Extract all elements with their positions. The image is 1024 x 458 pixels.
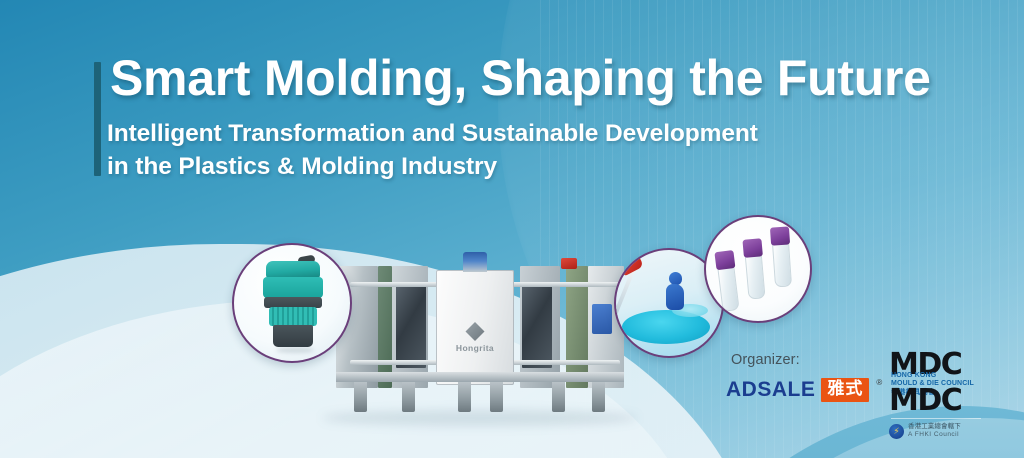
hongrita-logo-icon	[466, 322, 485, 341]
cup-upper-band	[263, 277, 323, 298]
event-banner: Smart Molding, Shaping the Future Intell…	[0, 0, 1024, 458]
test-tube	[771, 226, 792, 287]
test-tube-cap	[770, 226, 790, 245]
mdc-name-line-1: HONG KONG	[891, 372, 974, 380]
machine-red-block	[561, 258, 577, 269]
lab-figure-body	[666, 284, 684, 310]
machine-foot	[552, 382, 565, 412]
machine-core-right	[522, 282, 552, 368]
subtitle-line-1: Intelligent Transformation and Sustainab…	[107, 118, 867, 151]
fhki-text: 香港工業總會轄下 A FHKI Council	[908, 423, 961, 439]
organizer-label: Organizer:	[731, 352, 800, 368]
fhki-emblem-icon: ⚡	[889, 424, 904, 439]
machine-foot	[490, 382, 503, 412]
adsale-logo[interactable]: ADSALE 雅式 ®	[726, 378, 882, 402]
product-circle-collapsible-cup	[232, 243, 352, 363]
subtitle-line-2: in the Plastics & Molding Industry	[107, 151, 867, 184]
page-subtitle: Intelligent Transformation and Sustainab…	[107, 118, 867, 183]
machine-core-left	[396, 282, 426, 368]
test-tube-glass	[772, 241, 792, 287]
mdc-logo[interactable]: MDC HONG KONG MOULD & DIE COUNCIL 香港模具協會…	[889, 350, 985, 442]
cup-base	[273, 325, 313, 347]
fhki-english: A FHKI Council	[908, 431, 961, 439]
machine-foot	[458, 382, 471, 412]
machine-foot	[354, 382, 367, 412]
adsale-wordmark: ADSALE	[726, 378, 815, 402]
test-tube	[715, 250, 739, 312]
page-title: Smart Molding, Shaping the Future	[110, 52, 931, 105]
machine-blue-panel	[592, 304, 612, 334]
injection-mold-machine-image: Hongrita	[330, 252, 630, 442]
product-circle-test-tubes	[704, 215, 812, 323]
mdc-bottom-letters: MDC	[889, 386, 961, 416]
test-tube-cap	[714, 250, 735, 270]
adsale-registered-mark: ®	[876, 378, 882, 387]
fhki-affiliation: ⚡ 香港工業總會轄下 A FHKI Council	[889, 423, 961, 439]
machine-hydraulic-cylinder	[463, 252, 487, 272]
lab-blue-figure	[666, 272, 684, 310]
adsale-chinese-mark: 雅式	[821, 378, 869, 402]
machine-brand-label: Hongrita	[436, 343, 514, 353]
machine-foot	[592, 382, 605, 412]
cup-shadow	[276, 347, 314, 353]
fhki-chinese: 香港工業總會轄下	[908, 423, 961, 431]
headline-accent-bar	[94, 62, 101, 176]
mdc-divider	[891, 418, 981, 419]
machine-center-platen: Hongrita	[436, 270, 514, 385]
machine-shadow	[322, 410, 638, 426]
test-tube-glass	[745, 253, 766, 299]
machine-base-rail	[336, 372, 624, 382]
test-tube-glass	[717, 265, 739, 312]
collapsible-cup-illustration	[262, 261, 324, 347]
cup-ribbed-band	[269, 307, 317, 326]
test-tube	[743, 238, 765, 299]
test-tube-cap	[742, 238, 762, 258]
machine-foot	[402, 382, 415, 412]
